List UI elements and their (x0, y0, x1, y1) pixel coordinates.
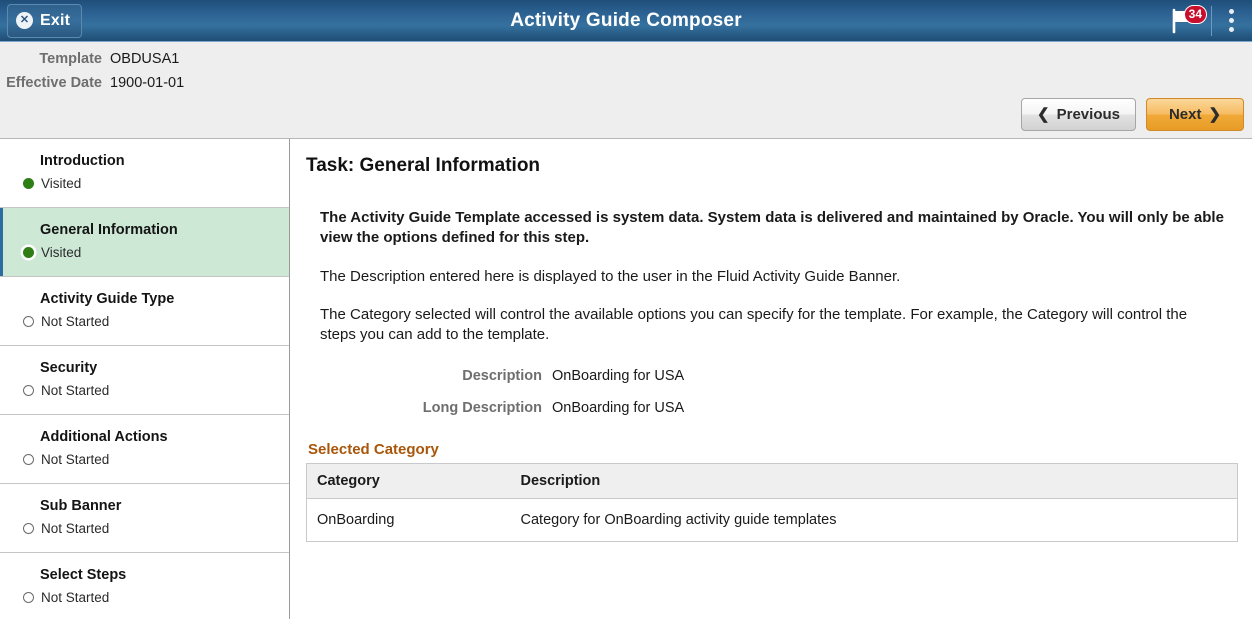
description-help-text: The Description entered here is displaye… (320, 267, 1225, 287)
sidebar-item-status: Visited (23, 176, 279, 191)
sidebar-item-label: Select Steps (40, 566, 279, 585)
sidebar-item-status-label: Not Started (41, 383, 109, 398)
sidebar-item-status-label: Not Started (41, 590, 109, 605)
kebab-dot (1229, 9, 1234, 14)
exit-button-label: Exit (40, 12, 70, 30)
system-data-notice: The Activity Guide Template accessed is … (320, 208, 1225, 248)
sidebar-item-general-information[interactable]: General Information Visited (0, 208, 289, 277)
kebab-dot (1229, 27, 1234, 32)
status-not-started-icon (23, 592, 34, 603)
table-row[interactable]: OnBoarding Category for OnBoarding activ… (307, 499, 1238, 542)
sidebar-item-additional-actions[interactable]: Additional Actions Not Started (0, 415, 289, 484)
sidebar-item-label: Security (40, 359, 279, 378)
description-label: Description (320, 368, 552, 384)
sidebar-item-status-label: Not Started (41, 452, 109, 467)
category-help-text: The Category selected will control the a… (320, 305, 1225, 345)
selected-category-heading: Selected Category (308, 441, 1236, 458)
description-fields: Description OnBoarding for USA Long Desc… (320, 368, 1236, 432)
sidebar-item-label: General Information (40, 221, 279, 240)
sidebar-item-select-steps[interactable]: Select Steps Not Started (0, 553, 289, 619)
status-not-started-icon (23, 523, 34, 534)
previous-button[interactable]: ❮ Previous (1021, 98, 1136, 131)
template-subheader: Template OBDUSA1 Effective Date 1900-01-… (0, 42, 1252, 139)
wizard-nav: ❮ Previous Next ❯ (1021, 98, 1244, 140)
sidebar-item-status: Not Started (23, 521, 279, 536)
sidebar-item-sub-banner[interactable]: Sub Banner Not Started (0, 484, 289, 553)
table-header-row: Category Description (307, 464, 1238, 499)
status-visited-icon (23, 247, 34, 258)
template-value: OBDUSA1 (110, 51, 179, 67)
page-title: Task: General Information (306, 155, 1236, 177)
sidebar-item-introduction[interactable]: Introduction Visited (0, 139, 289, 208)
sidebar-item-activity-guide-type[interactable]: Activity Guide Type Not Started (0, 277, 289, 346)
sidebar-item-status-label: Visited (41, 176, 81, 191)
description-row: Description OnBoarding for USA (320, 368, 1236, 400)
status-visited-icon (23, 178, 34, 189)
chevron-left-icon: ❮ (1037, 107, 1050, 122)
sidebar-item-status: Not Started (23, 452, 279, 467)
sidebar-item-status-label: Not Started (41, 521, 109, 536)
selected-category-table: Category Description OnBoarding Category… (306, 463, 1238, 542)
long-description-row: Long Description OnBoarding for USA (320, 400, 1236, 432)
long-description-value: OnBoarding for USA (552, 400, 684, 416)
long-description-label: Long Description (320, 400, 552, 416)
header-actions: 34 (1157, 0, 1252, 42)
kebab-dot (1229, 18, 1234, 23)
previous-button-label: Previous (1057, 106, 1120, 123)
sidebar-item-label: Sub Banner (40, 497, 279, 516)
description-value: OnBoarding for USA (552, 368, 684, 384)
step-sidebar: Introduction Visited General Information… (0, 139, 290, 619)
cell-description: Category for OnBoarding activity guide t… (511, 499, 1238, 542)
status-not-started-icon (23, 316, 34, 327)
kebab-menu-icon[interactable] (1216, 0, 1246, 42)
app-header: ✕ Exit Activity Guide Composer 34 (0, 0, 1252, 42)
sidebar-item-label: Activity Guide Type (40, 290, 279, 309)
template-label: Template (0, 51, 110, 67)
sidebar-item-label: Introduction (40, 152, 279, 171)
status-not-started-icon (23, 454, 34, 465)
sidebar-item-security[interactable]: Security Not Started (0, 346, 289, 415)
effective-date-value: 1900-01-01 (110, 75, 184, 91)
next-button-label: Next (1169, 106, 1202, 123)
next-button[interactable]: Next ❯ (1146, 98, 1244, 131)
sidebar-item-label: Additional Actions (40, 428, 279, 447)
column-header-description: Description (511, 464, 1238, 499)
sidebar-item-status: Not Started (23, 383, 279, 398)
notifications-button[interactable]: 34 (1157, 0, 1209, 42)
effective-date-label: Effective Date (0, 75, 110, 91)
app-title: Activity Guide Composer (0, 0, 1252, 42)
template-info-row: Template OBDUSA1 (0, 51, 184, 75)
notification-badge: 34 (1184, 5, 1207, 24)
template-info: Template OBDUSA1 Effective Date 1900-01-… (0, 51, 184, 99)
sidebar-item-status-label: Not Started (41, 314, 109, 329)
status-not-started-icon (23, 385, 34, 396)
cell-category: OnBoarding (307, 499, 511, 542)
column-header-category: Category (307, 464, 511, 499)
template-info-row: Effective Date 1900-01-01 (0, 75, 184, 99)
sidebar-item-status-label: Visited (41, 245, 81, 260)
sidebar-item-status: Not Started (23, 590, 279, 605)
page-body: Introduction Visited General Information… (0, 139, 1252, 619)
exit-button[interactable]: ✕ Exit (7, 4, 82, 38)
header-divider (1211, 6, 1212, 36)
close-x-icon: ✕ (16, 12, 33, 29)
main-content: Task: General Information The Activity G… (290, 139, 1252, 619)
sidebar-item-status: Not Started (23, 314, 279, 329)
chevron-right-icon: ❯ (1208, 107, 1221, 122)
sidebar-item-status: Visited (23, 245, 279, 260)
